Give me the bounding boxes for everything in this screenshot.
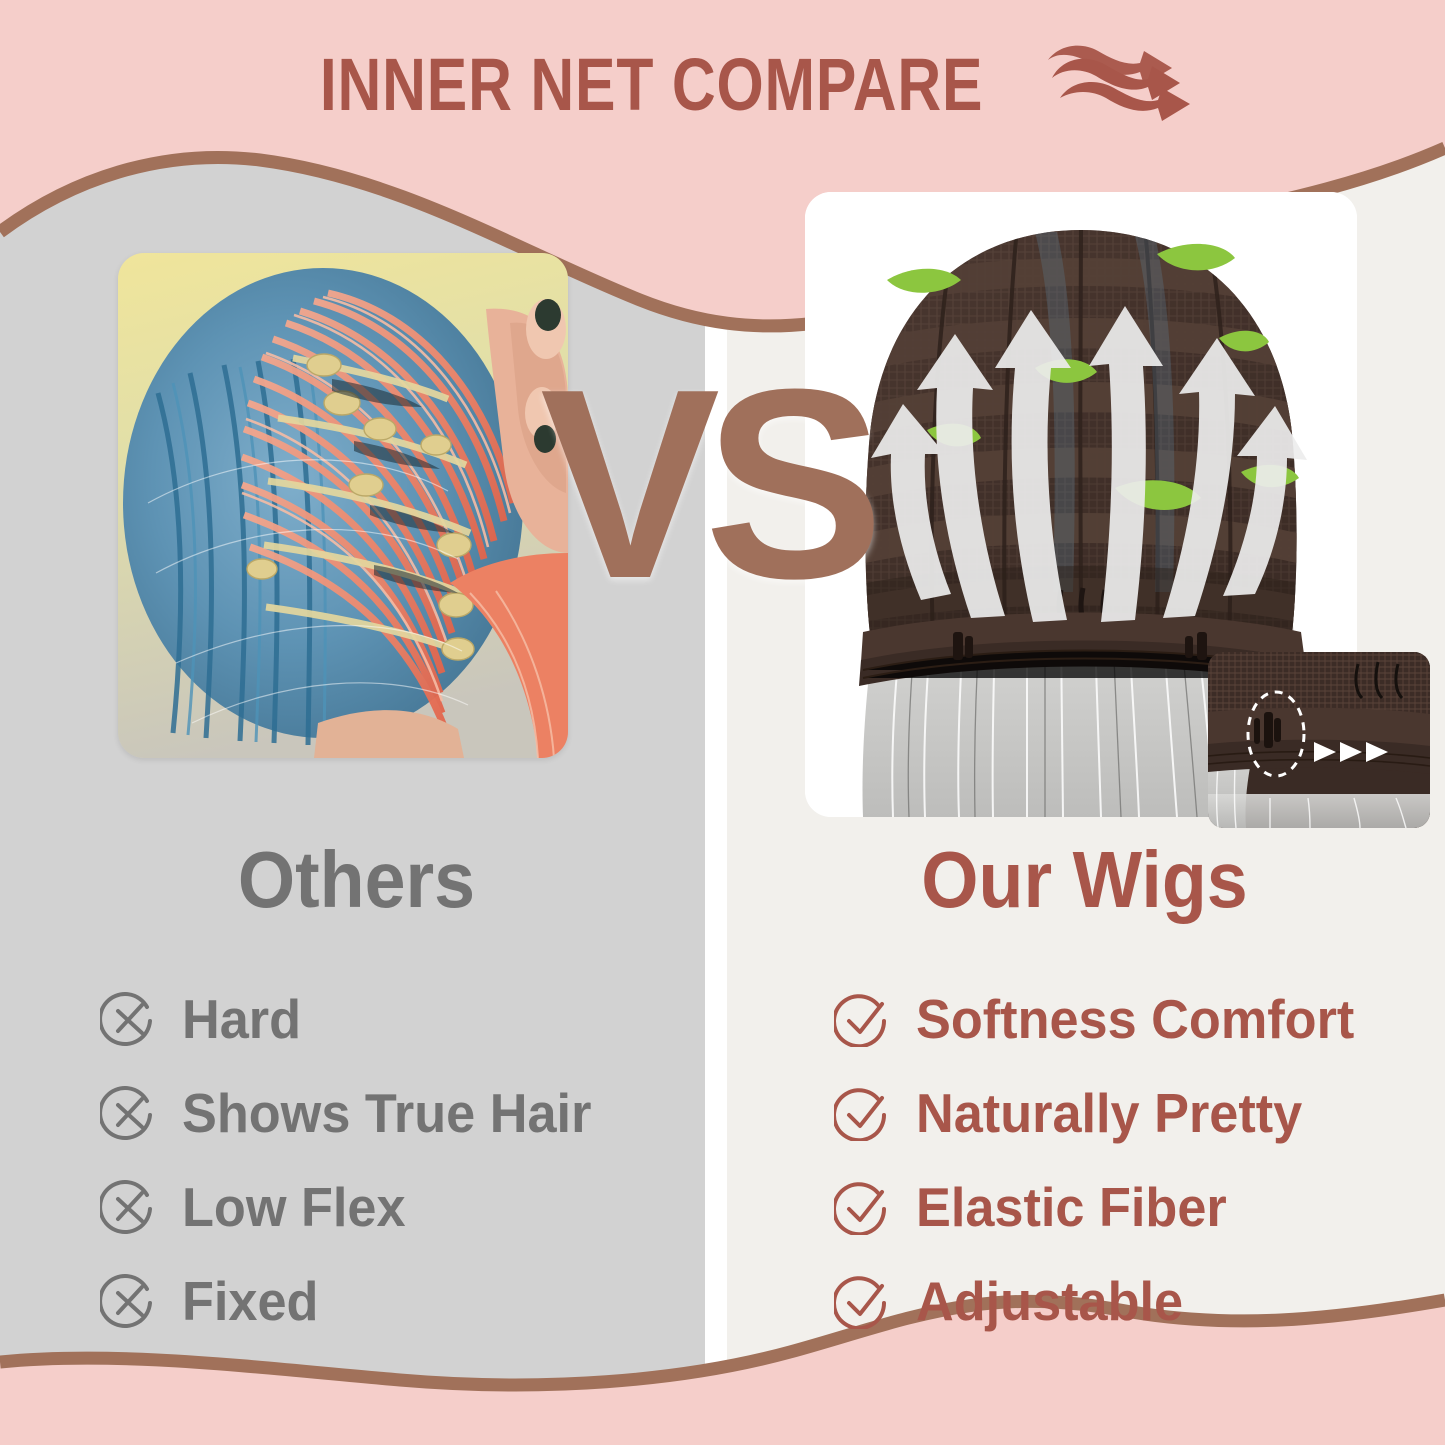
circle-x-icon — [100, 1273, 156, 1329]
others-column: Others Hard Shows True Hair — [0, 840, 713, 1358]
circle-check-icon — [834, 1273, 890, 1329]
circle-x-icon — [100, 1085, 156, 1141]
our-wigs-feature-list: Softness Comfort Naturally Pretty Elasti… — [724, 982, 1445, 1338]
feature-label: Elastic Fiber — [916, 1180, 1227, 1235]
feature-label: Adjustable — [916, 1274, 1183, 1329]
circle-x-icon — [100, 1179, 156, 1235]
list-item: Naturally Pretty — [834, 1076, 1445, 1150]
others-wig-cap-photo — [118, 253, 568, 758]
our-wigs-heading: Our Wigs — [753, 840, 1416, 920]
feature-label: Naturally Pretty — [916, 1086, 1302, 1141]
circle-x-icon — [100, 991, 156, 1047]
infographic-canvas: VS INNER NET COMPARE Others — [0, 0, 1445, 1445]
list-item: Softness Comfort — [834, 982, 1445, 1056]
feature-label: Fixed — [182, 1274, 318, 1329]
circle-check-icon — [834, 1179, 890, 1235]
circle-check-icon — [834, 991, 890, 1047]
airflow-waves-icon — [1048, 42, 1198, 128]
others-feature-list: Hard Shows True Hair Low Flex — [0, 982, 713, 1338]
page-header: INNER NET COMPARE — [0, 0, 1445, 170]
feature-label: Low Flex — [182, 1180, 406, 1235]
page-title: INNER NET COMPARE — [320, 48, 983, 122]
feature-label: Shows True Hair — [182, 1086, 591, 1141]
list-item: Fixed — [100, 1264, 713, 1338]
list-item: Elastic Fiber — [834, 1170, 1445, 1244]
list-item: Shows True Hair — [100, 1076, 713, 1150]
circle-check-icon — [834, 1085, 890, 1141]
vs-badge: VS — [540, 340, 840, 630]
feature-label: Softness Comfort — [916, 992, 1354, 1047]
others-heading: Others — [29, 840, 685, 920]
list-item: Low Flex — [100, 1170, 713, 1244]
feature-label: Hard — [182, 992, 301, 1047]
adjustable-strap-detail-photo — [1208, 652, 1430, 828]
list-item: Hard — [100, 982, 713, 1056]
list-item: Adjustable — [834, 1264, 1445, 1338]
our-wigs-column: Our Wigs Softness Comfort Naturally Pret… — [724, 840, 1445, 1358]
